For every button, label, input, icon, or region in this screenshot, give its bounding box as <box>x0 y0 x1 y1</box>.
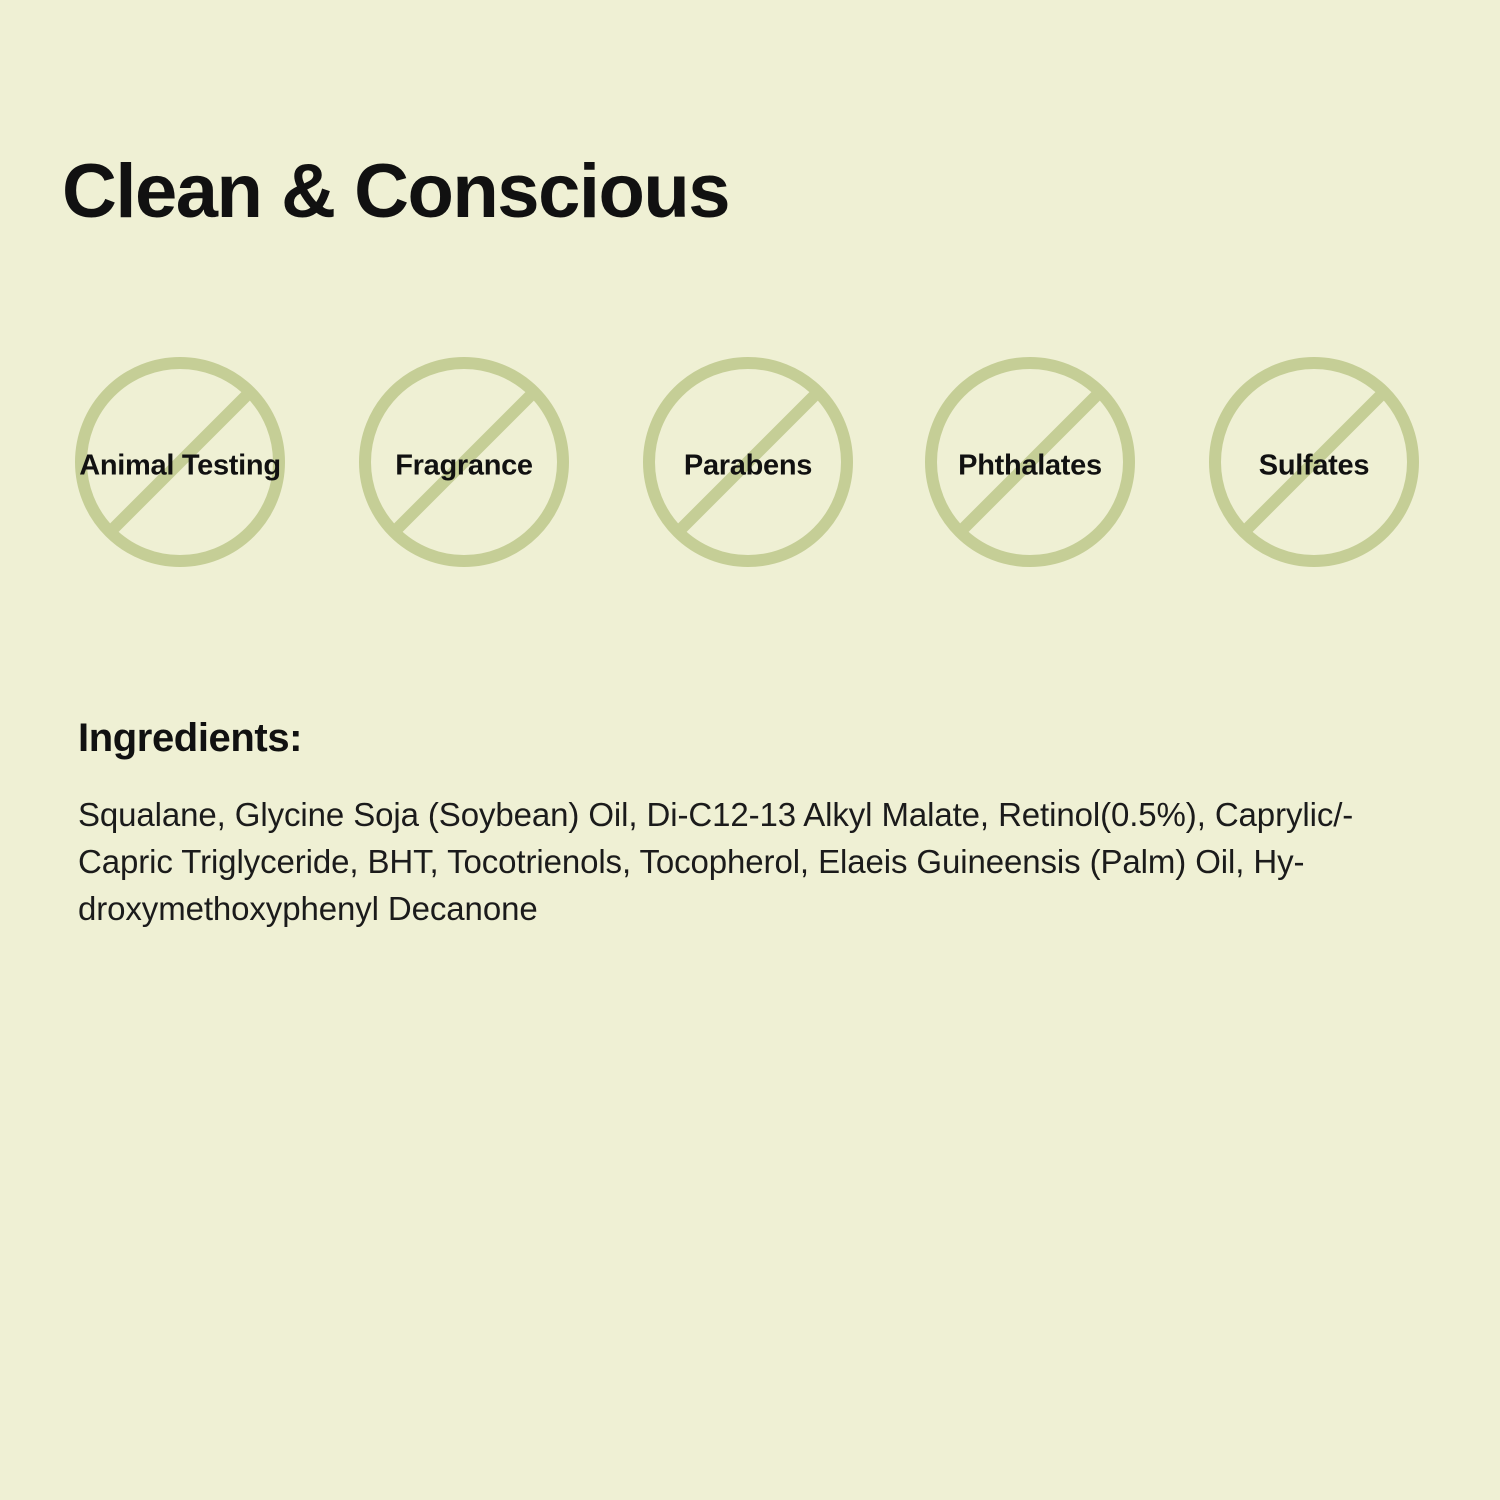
badge-label: Fragrance <box>308 447 620 484</box>
badge-label: Phthalates <box>874 447 1186 484</box>
ingredients-heading: Ingredients: <box>78 716 302 761</box>
badge-parabens: Parabens <box>636 352 860 580</box>
badge-sulfates: Sulfates <box>1202 352 1426 580</box>
badge-animal-testing: Animal Testing <box>68 352 292 580</box>
page-title: Clean & Conscious <box>62 152 729 232</box>
product-info-panel: Clean & Conscious Animal Testing Fragran… <box>0 0 1500 1500</box>
badge-label: Sulfates <box>1158 447 1470 484</box>
free-from-badge-row: Animal Testing Fragrance Parabens <box>62 352 1442 588</box>
ingredients-text: Squalane, Glycine Soja (Soybean) Oil, Di… <box>78 792 1436 933</box>
badge-phthalates: Phthalates <box>918 352 1142 580</box>
badge-label: Parabens <box>592 447 904 484</box>
badge-fragrance: Fragrance <box>352 352 576 580</box>
badge-label: Animal Testing <box>24 447 336 484</box>
